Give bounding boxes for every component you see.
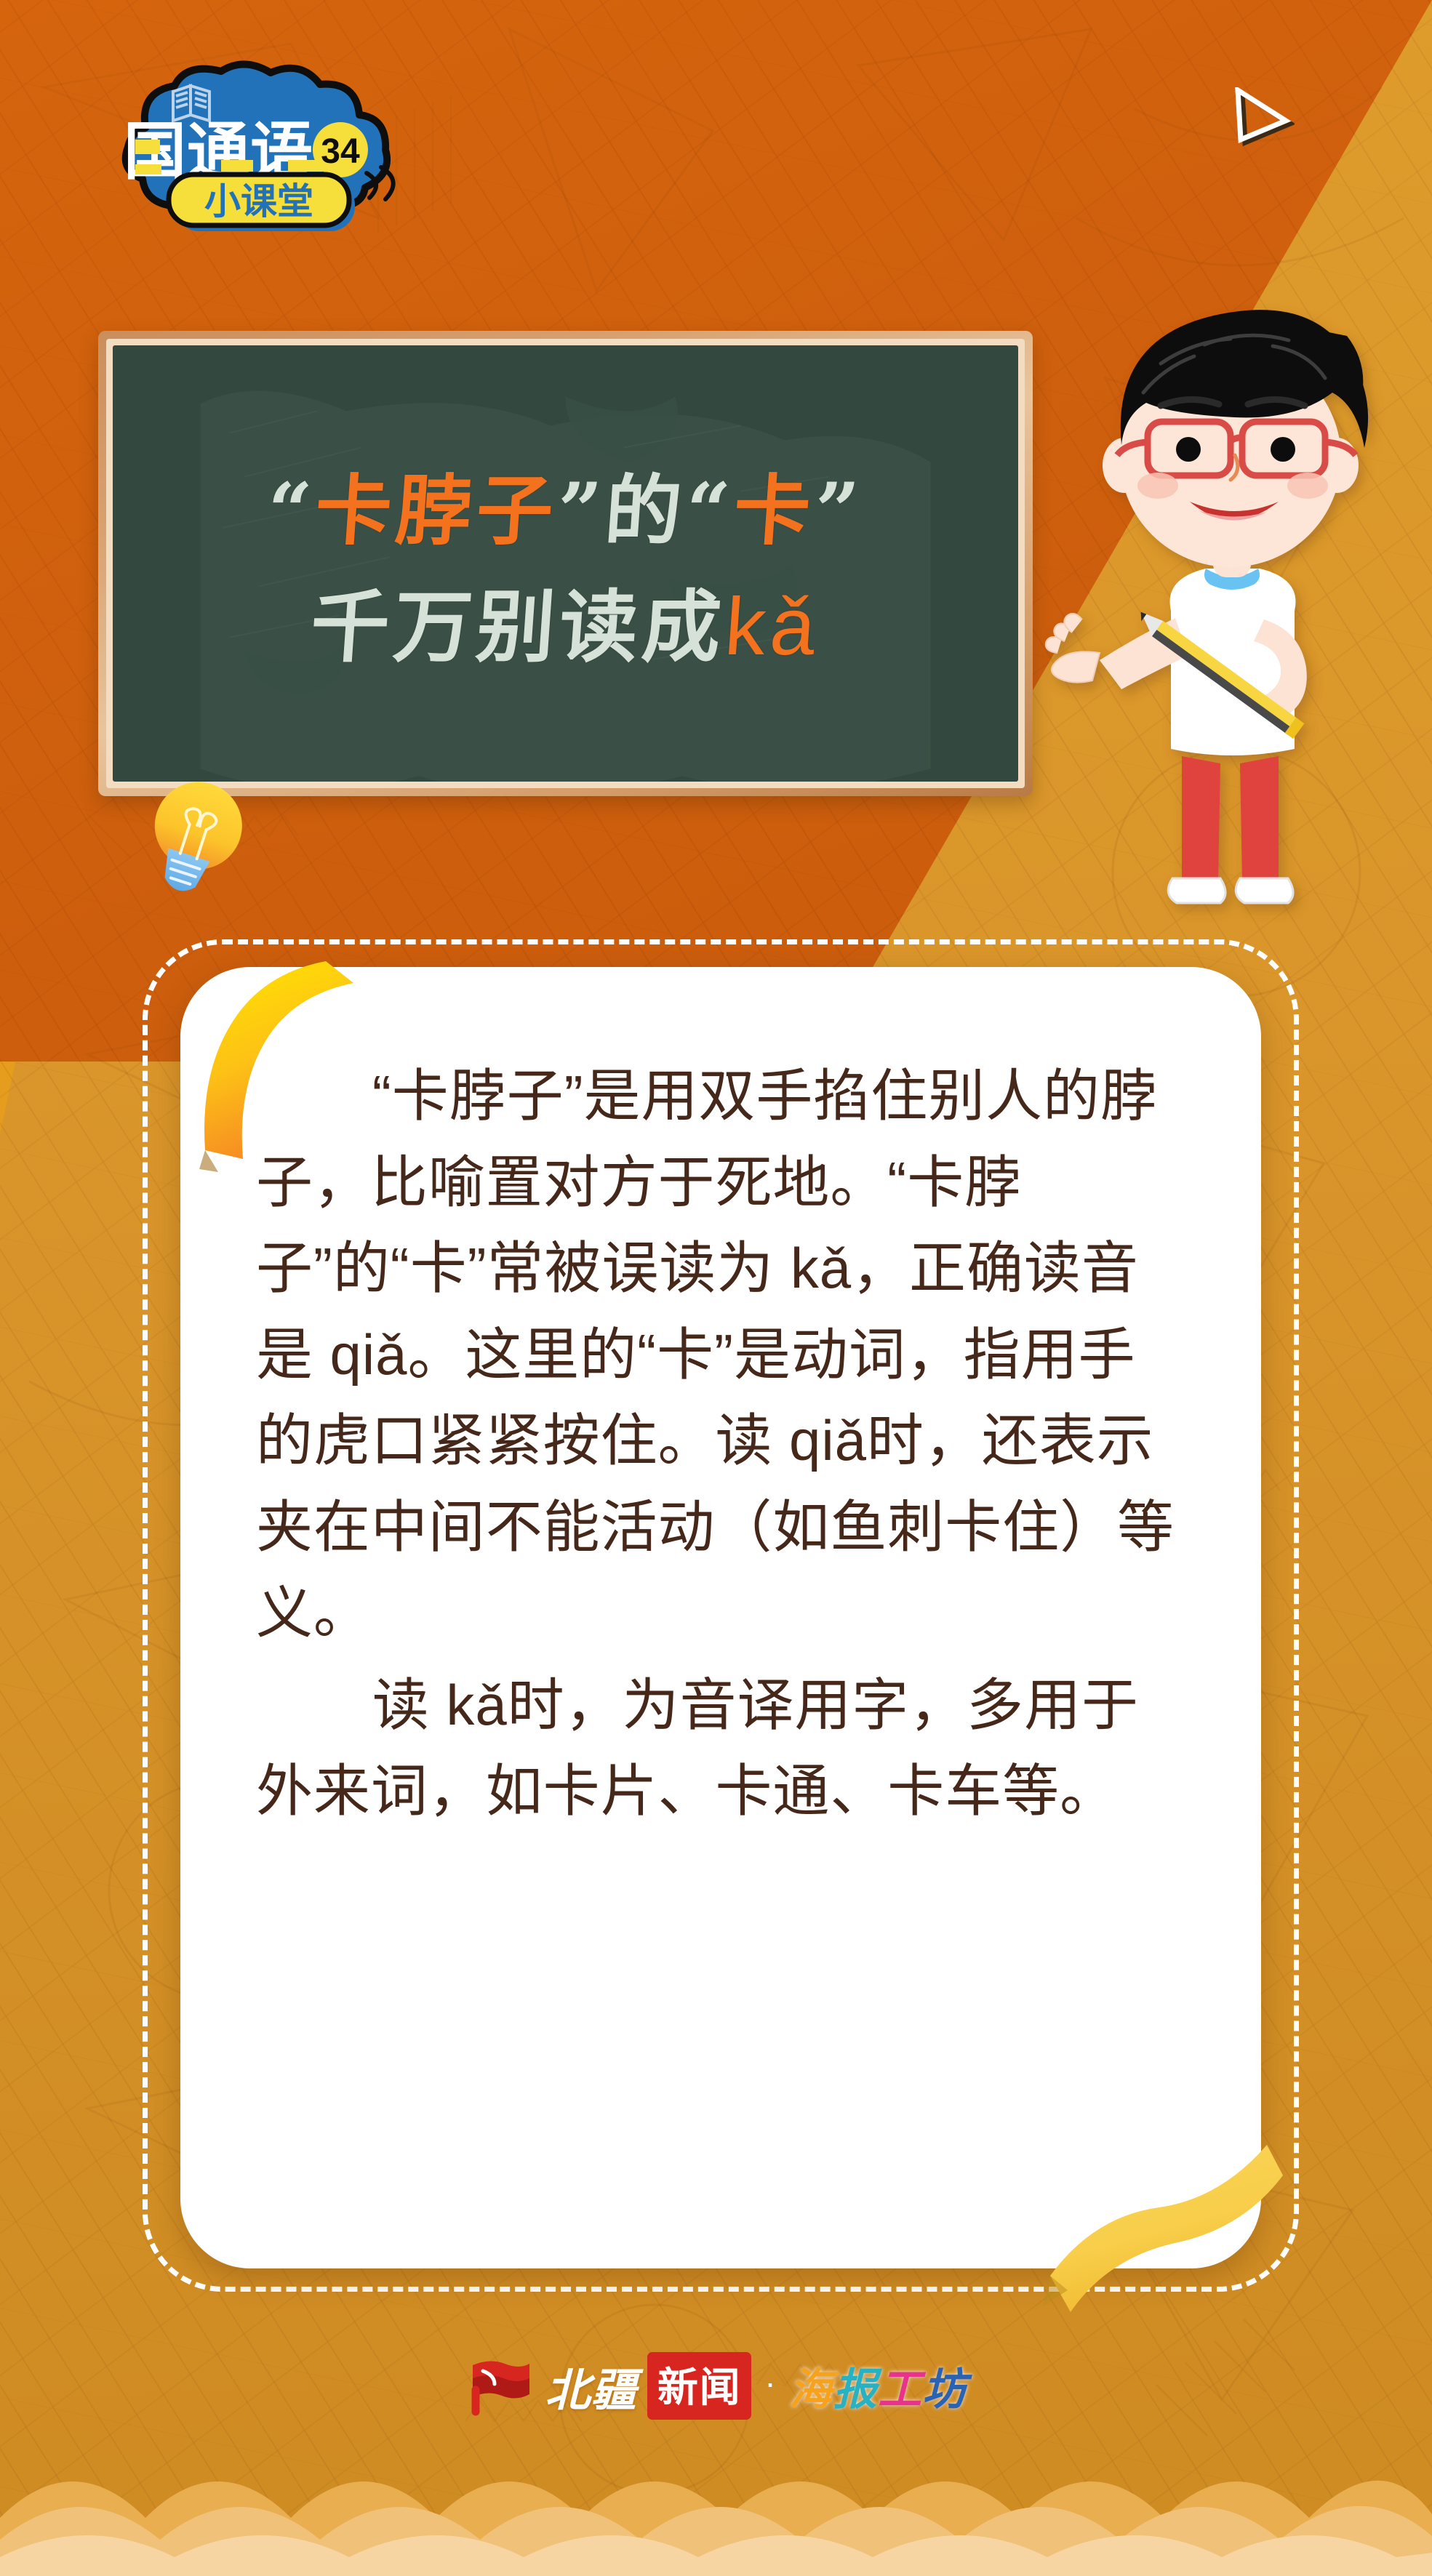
left-eye bbox=[1176, 437, 1201, 462]
footer-org: 北疆 bbox=[545, 2354, 637, 2419]
footer-workshop-char-1: 海 bbox=[789, 2366, 833, 2414]
quote-close-2: ” bbox=[812, 465, 866, 555]
left-leg bbox=[1182, 756, 1220, 880]
logo-sub-text: 小课堂 bbox=[204, 181, 313, 222]
footer-workshop: 海报工坊 bbox=[789, 2354, 967, 2417]
blackboard: “卡脖子”的“卡” 千万别读成kǎ bbox=[98, 331, 1033, 796]
left-cheek bbox=[1137, 473, 1178, 499]
right-eye bbox=[1271, 437, 1295, 462]
poster-root: 国通语 34 小课堂 bbox=[0, 0, 1432, 2576]
left-hand bbox=[1046, 614, 1100, 683]
blackboard-line2-text: 千万别读成 bbox=[308, 585, 728, 672]
blackboard-title-line-2: 千万别读成kǎ bbox=[307, 564, 824, 678]
triangle-outline-icon bbox=[1229, 87, 1295, 150]
card-paragraph-1: “卡脖子”是用双手掐住别人的脖子，比喻置对方于死地。“卡脖子”的“卡”常被误读为… bbox=[256, 1053, 1185, 1656]
quote-open-1: “ bbox=[264, 465, 319, 555]
student-boy-illustration bbox=[1033, 254, 1418, 931]
content-card: “卡脖子”是用双手掐住别人的脖子，比喻置对方于死地。“卡脖子”的“卡”常被误读为… bbox=[180, 967, 1261, 2268]
footer-separator: · bbox=[761, 2366, 778, 2407]
footer-workshop-char-3: 工 bbox=[878, 2366, 922, 2414]
blackboard-highlight-1: 卡脖子 bbox=[313, 469, 561, 554]
left-shoe bbox=[1168, 878, 1225, 903]
right-cheek bbox=[1287, 473, 1328, 499]
blackboard-title-line-1: “卡脖子”的“卡” bbox=[264, 449, 867, 560]
logo-sub-pill: 小课堂 bbox=[169, 174, 355, 231]
blackboard-middle: 的 bbox=[602, 469, 689, 554]
right-shoe bbox=[1236, 878, 1293, 903]
blackboard-highlight-2: 卡 bbox=[731, 469, 817, 554]
blackboard-line2-pinyin: kǎ bbox=[721, 581, 823, 672]
right-leg bbox=[1240, 756, 1279, 880]
episode-number: 34 bbox=[321, 132, 360, 171]
footer-workshop-char-4: 坊 bbox=[922, 2366, 967, 2414]
quote-open-2: “ bbox=[683, 465, 737, 555]
footer-workshop-char-2: 报 bbox=[833, 2366, 878, 2414]
red-flag-icon bbox=[465, 2356, 535, 2416]
footer-news-tag: 新闻 bbox=[647, 2352, 751, 2420]
card-body: “卡脖子”是用双手掐住别人的脖子，比喻置对方于死地。“卡脖子”的“卡”常被误读为… bbox=[180, 967, 1261, 1878]
footer-credit: 北疆 新闻 · 海报工坊 bbox=[0, 2352, 1432, 2420]
chalk-smudge bbox=[113, 345, 1018, 782]
brand-logo-badge: 国通语 34 小课堂 bbox=[93, 64, 435, 246]
quote-close-1: ” bbox=[554, 465, 609, 555]
card-paragraph-2: 读 kǎ时，为音译用字，多用于外来词，如卡片、卡通、卡车等。 bbox=[256, 1662, 1185, 1834]
